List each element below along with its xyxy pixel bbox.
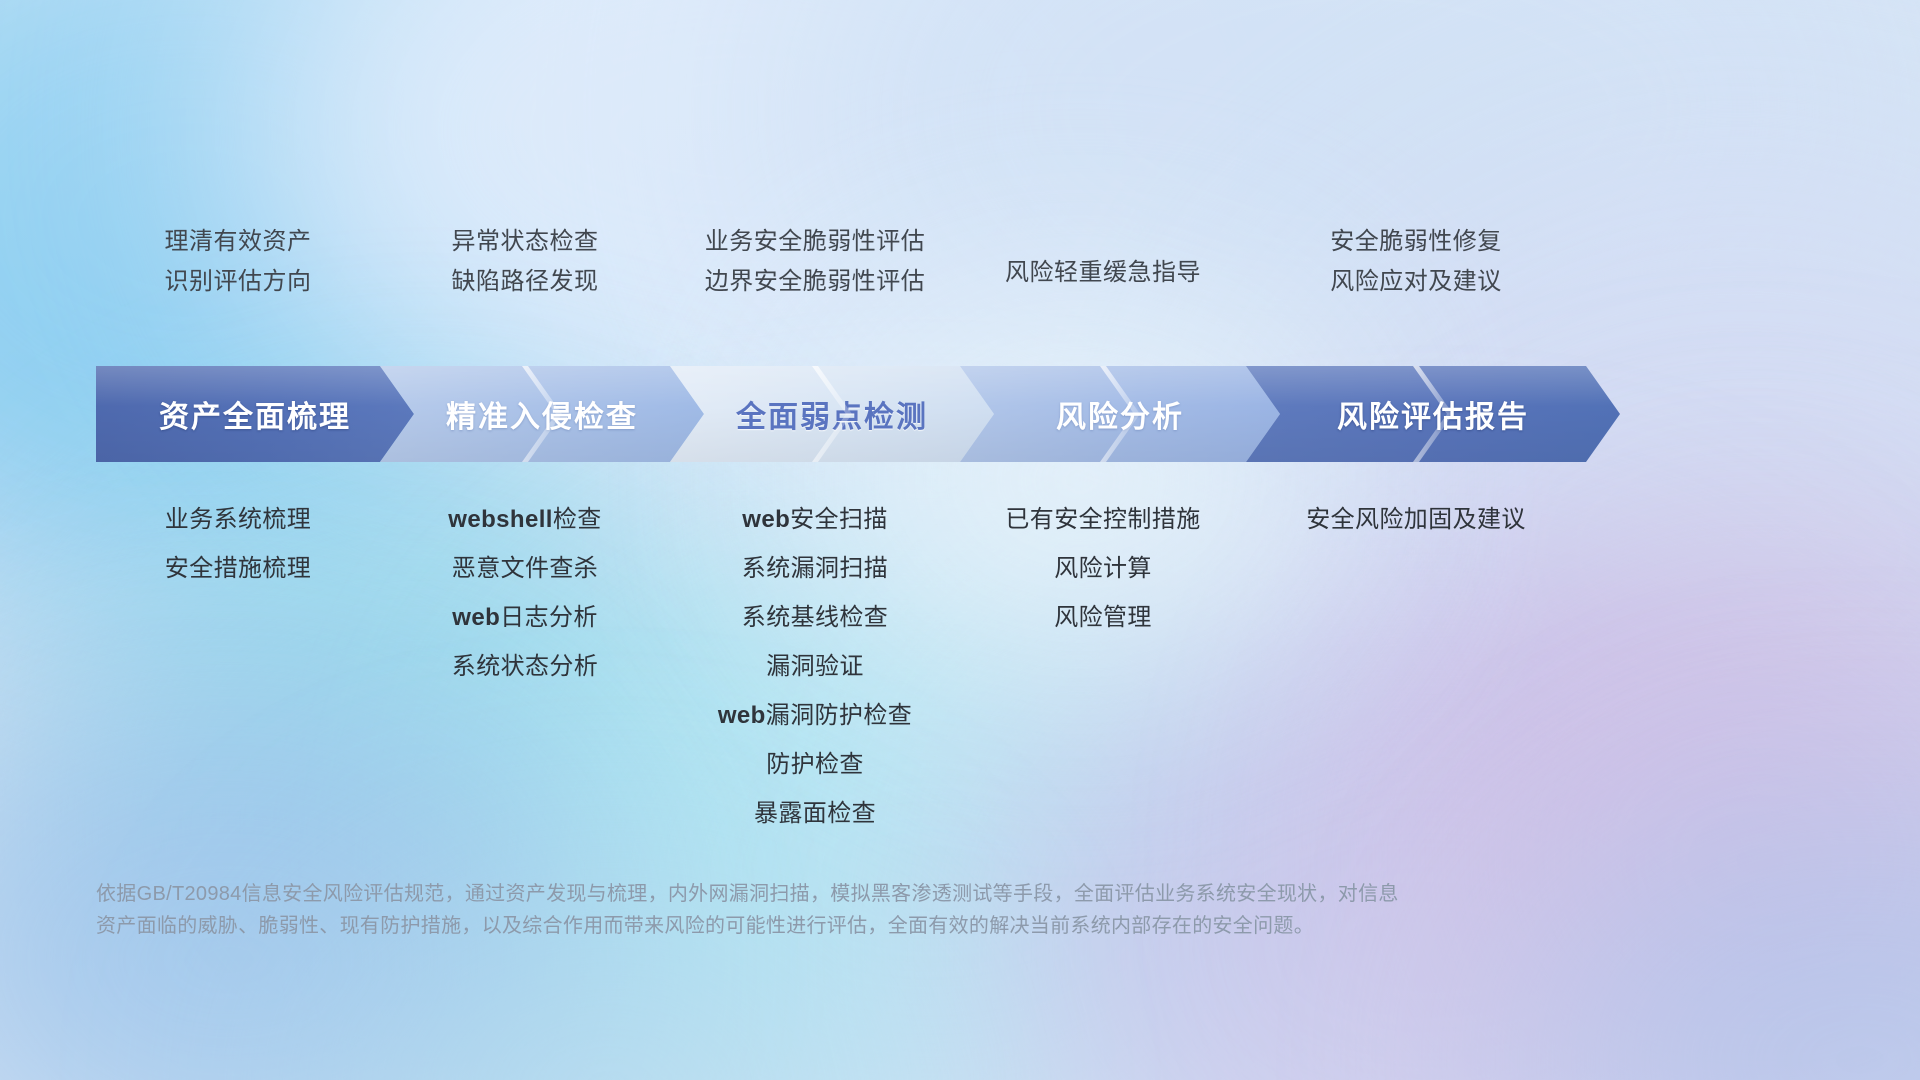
task-item: 系统漏洞扫描 bbox=[742, 557, 888, 581]
top-item: 缺陷路径发现 bbox=[452, 270, 599, 294]
top-item: 业务安全脆弱性评估 bbox=[705, 230, 926, 254]
task-item: web漏洞防护检查 bbox=[718, 704, 912, 728]
task-item: 已有安全控制措施 bbox=[1005, 508, 1200, 532]
top-item: 识别评估方向 bbox=[165, 270, 312, 294]
task-list-weakness-detection: web安全扫描 系统漏洞扫描 系统基线检查 漏洞验证 web漏洞防护检查 防护检… bbox=[670, 508, 960, 826]
footer-description: 依据GB/T20984信息安全风险评估规范，通过资产发现与梳理，内外网漏洞扫描，… bbox=[96, 878, 1616, 943]
stage-arrow-banner: 资产全面梳理 精准入侵检查 全面弱点检测 风险分析 风险评估报告 bbox=[96, 366, 1620, 462]
task-item: 业务系统梳理 bbox=[165, 508, 311, 532]
task-item: webshell检查 bbox=[448, 508, 601, 532]
stage-label: 资产全面梳理 bbox=[159, 392, 351, 436]
task-list-risk-report: 安全风险加固及建议 bbox=[1246, 508, 1586, 532]
task-item: 风险计算 bbox=[1054, 557, 1152, 581]
top-list-weakness-detection: 业务安全脆弱性评估 边界安全脆弱性评估 bbox=[670, 230, 960, 294]
stage-arrow-risk-analysis[interactable]: 风险分析 bbox=[960, 366, 1280, 462]
process-diagram: 理清有效资产 识别评估方向 异常状态检查 缺陷路径发现 业务安全脆弱性评估 边界… bbox=[0, 0, 1920, 1080]
top-list-risk-report: 安全脆弱性修复 风险应对及建议 bbox=[1246, 230, 1586, 294]
stage-label: 精准入侵检查 bbox=[446, 392, 638, 436]
task-item: web安全扫描 bbox=[742, 508, 888, 532]
bottom-tasks-row: 业务系统梳理 安全措施梳理 webshell检查 恶意文件查杀 web日志分析 … bbox=[96, 508, 1880, 826]
footer-line: 资产面临的威胁、脆弱性、现有防护措施，以及综合作用而带来风险的可能性进行评估，全… bbox=[96, 910, 1616, 942]
task-item: 系统状态分析 bbox=[452, 655, 598, 679]
task-item: 漏洞验证 bbox=[766, 655, 864, 679]
top-item: 边界安全脆弱性评估 bbox=[705, 270, 926, 294]
task-item: 系统基线检查 bbox=[742, 606, 888, 630]
top-item: 风险轻重缓急指导 bbox=[1005, 261, 1201, 285]
task-item: 暴露面检查 bbox=[754, 802, 876, 826]
top-outcomes-row: 理清有效资产 识别评估方向 异常状态检查 缺陷路径发现 业务安全脆弱性评估 边界… bbox=[96, 230, 1880, 316]
stage-label: 风险评估报告 bbox=[1337, 392, 1529, 436]
task-list-intrusion-check: webshell检查 恶意文件查杀 web日志分析 系统状态分析 bbox=[380, 508, 670, 679]
task-item: 安全风险加固及建议 bbox=[1306, 508, 1526, 532]
task-item: 防护检查 bbox=[766, 753, 864, 777]
footer-line: 依据GB/T20984信息安全风险评估规范，通过资产发现与梳理，内外网漏洞扫描，… bbox=[96, 878, 1616, 910]
top-item: 异常状态检查 bbox=[452, 230, 599, 254]
top-list-asset-inventory: 理清有效资产 识别评估方向 bbox=[96, 230, 380, 294]
top-item: 理清有效资产 bbox=[165, 230, 312, 254]
task-item: web日志分析 bbox=[452, 606, 598, 630]
top-item: 安全脆弱性修复 bbox=[1330, 230, 1502, 254]
task-item: 安全措施梳理 bbox=[165, 557, 311, 581]
top-list-risk-analysis: 风险轻重缓急指导 bbox=[960, 230, 1246, 316]
task-item: 恶意文件查杀 bbox=[452, 557, 598, 581]
stage-arrow-intrusion-check[interactable]: 精准入侵检查 bbox=[380, 366, 704, 462]
top-list-intrusion-check: 异常状态检查 缺陷路径发现 bbox=[380, 230, 670, 294]
stage-label: 风险分析 bbox=[1056, 392, 1184, 436]
task-list-risk-analysis: 已有安全控制措施 风险计算 风险管理 bbox=[960, 508, 1246, 630]
task-list-asset-inventory: 业务系统梳理 安全措施梳理 bbox=[96, 508, 380, 581]
top-item: 风险应对及建议 bbox=[1330, 270, 1502, 294]
stage-arrow-asset-inventory[interactable]: 资产全面梳理 bbox=[96, 366, 414, 462]
stage-arrow-weakness-detection[interactable]: 全面弱点检测 bbox=[670, 366, 994, 462]
stage-label: 全面弱点检测 bbox=[736, 392, 928, 436]
stage-arrow-risk-report[interactable]: 风险评估报告 bbox=[1246, 366, 1620, 462]
task-item: 风险管理 bbox=[1054, 606, 1152, 630]
